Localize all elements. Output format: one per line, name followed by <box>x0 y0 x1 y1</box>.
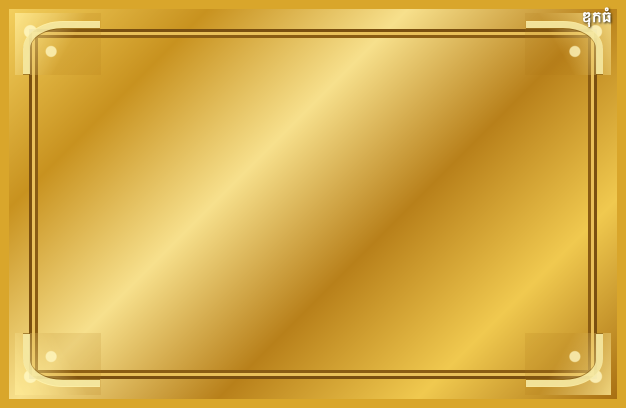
gold-frame <box>0 0 626 408</box>
frame-corner-ornament <box>15 13 101 75</box>
frame-corner-ornament <box>525 333 611 395</box>
gold-frame-inner-bevel <box>29 29 597 379</box>
channel-watermark: ឌុកធំ <box>582 8 612 30</box>
frame-corner-ornament <box>15 333 101 395</box>
poster-image: ឆ្នាំមមី សួស្តីឆ្នាំថ្មី ឆ្នាំមមី ព.ស. ២… <box>0 0 626 408</box>
